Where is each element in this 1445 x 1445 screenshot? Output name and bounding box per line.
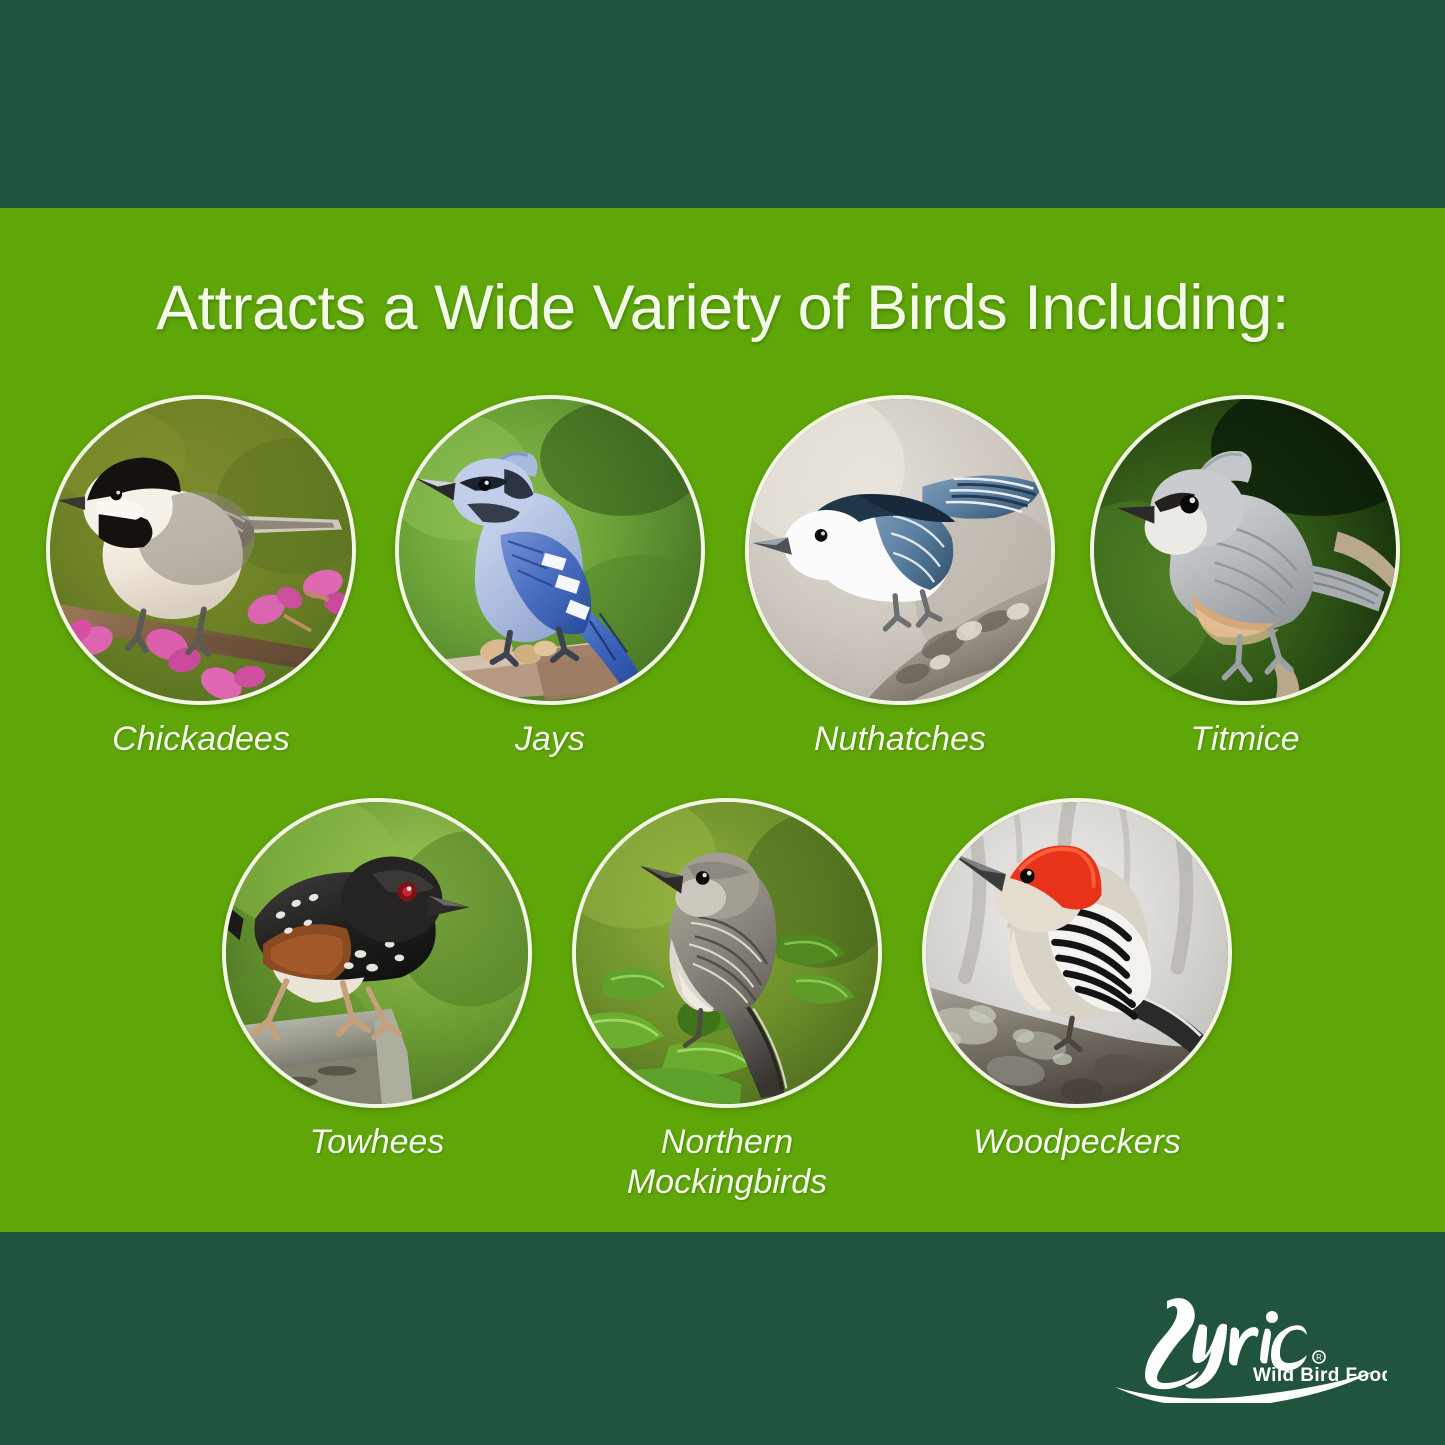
titmouse-photo [1094,399,1396,701]
bird-card-towhees: Towhees [217,798,537,1162]
svg-text:Wild Bird Food: Wild Bird Food [1253,1365,1387,1386]
bird-label-line-1: Northern [661,1123,793,1161]
bird-circle-chickadees [46,395,356,705]
bird-card-titmice: Titmice [1085,395,1405,759]
bird-circle-woodpeckers [922,798,1232,1108]
bird-card-nuthatches: Nuthatches [740,395,1060,759]
bird-label-woodpeckers: Woodpeckers [917,1122,1237,1162]
lyric-brand-logo: R Wild Bird Food [1107,1283,1387,1403]
bird-circle-towhees [222,798,532,1108]
bird-circle-titmice [1090,395,1400,705]
mockingbird-photo [576,802,878,1104]
bird-label-northern-mockingbirds: NorthernMockingbirds [567,1122,887,1202]
bird-label-line-2: Mockingbirds [627,1163,827,1201]
chickadee-photo [50,399,352,701]
poster-canvas: Attracts a Wide Variety of Birds Includi… [0,0,1445,1445]
towhee-photo [226,802,528,1104]
page-title: Attracts a Wide Variety of Birds Includi… [0,272,1445,344]
bird-card-northern-mockingbirds: NorthernMockingbirds [567,798,887,1202]
bird-circle-nuthatches [745,395,1055,705]
top-banner-band [0,0,1445,208]
nuthatch-photo [749,399,1051,701]
blue-jay-photo [399,399,701,701]
bird-circle-jays [395,395,705,705]
bird-label-chickadees: Chickadees [41,719,361,759]
bird-label-titmice: Titmice [1085,719,1405,759]
bird-card-woodpeckers: Woodpeckers [917,798,1237,1162]
bird-card-jays: Jays [390,395,710,759]
bird-card-chickadees: Chickadees [41,395,361,759]
bird-circle-northern-mockingbirds [572,798,882,1108]
bird-label-jays: Jays [390,719,710,759]
svg-text:R: R [1316,1353,1322,1362]
bird-label-towhees: Towhees [217,1122,537,1162]
bird-label-nuthatches: Nuthatches [740,719,1060,759]
woodpecker-photo [926,802,1228,1104]
